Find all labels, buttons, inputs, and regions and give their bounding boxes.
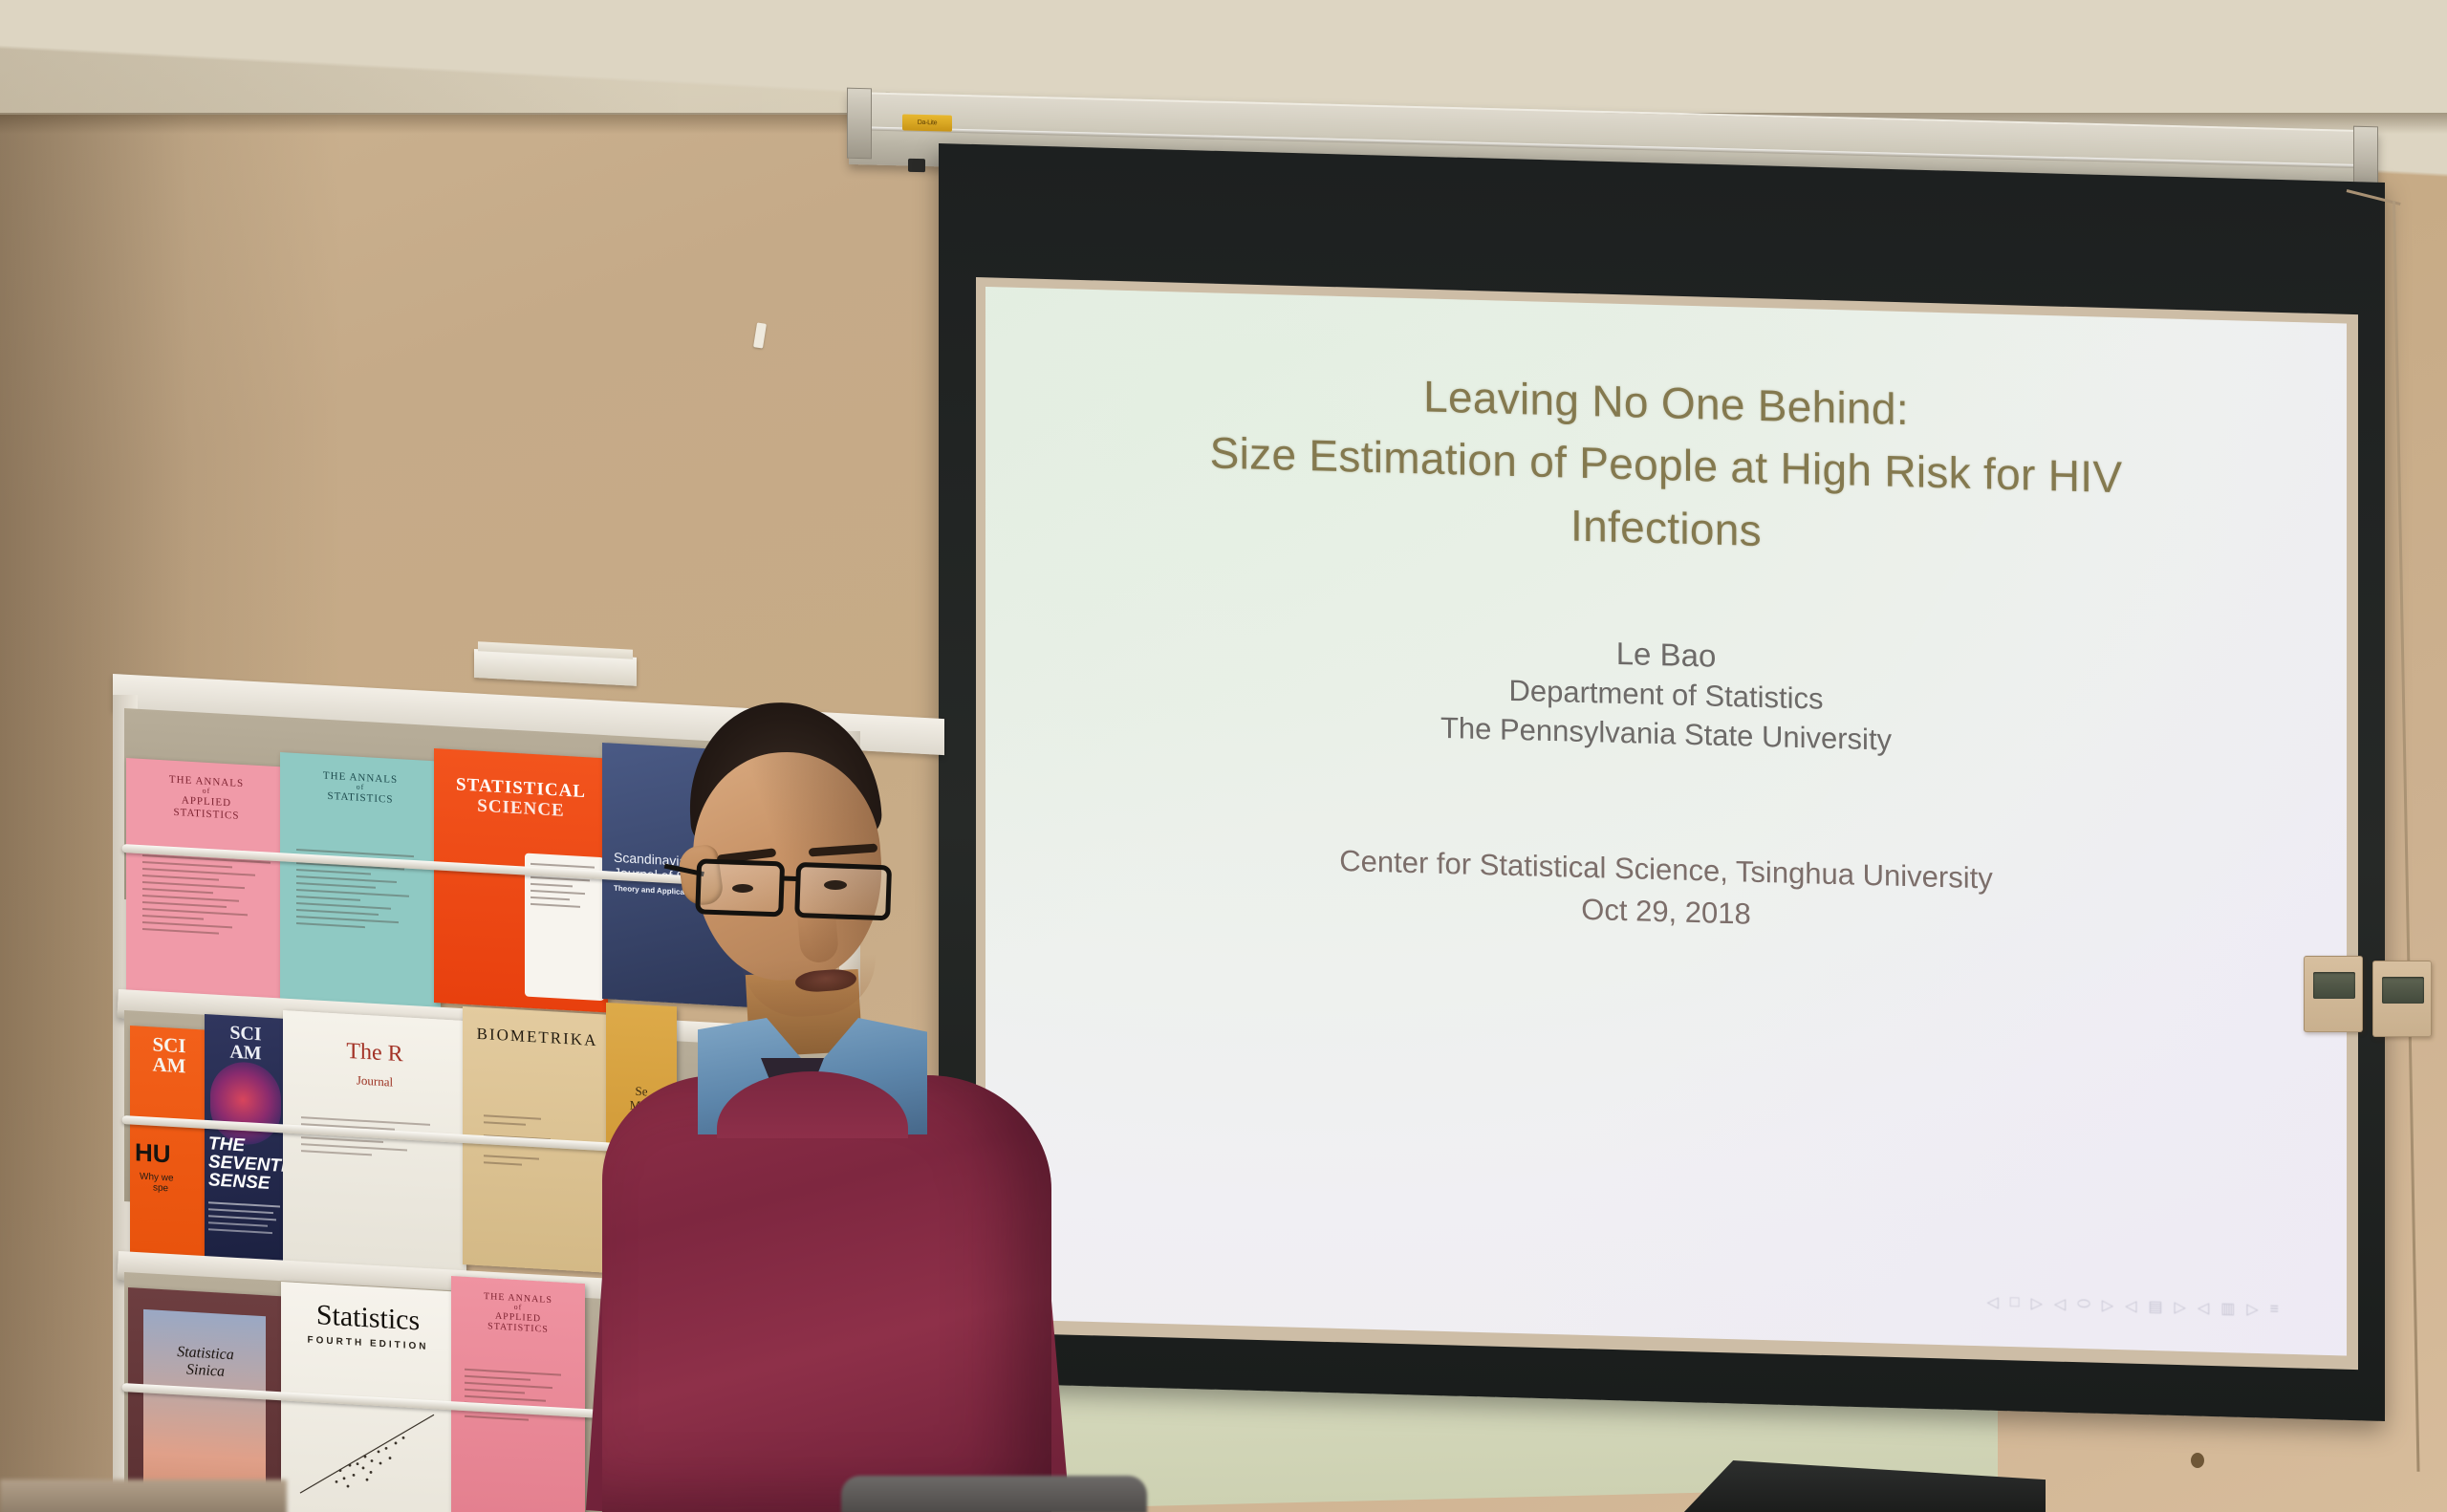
- journal-toc-lines: [465, 1369, 572, 1428]
- housing-brand-label: Da-Lite: [902, 114, 952, 131]
- eye-right: [824, 880, 847, 890]
- nav-section-next-icon[interactable]: ▷: [2246, 1300, 2259, 1319]
- nav-frame-prev-icon[interactable]: ◁: [2054, 1294, 2067, 1313]
- projected-slide: Leaving No One Behind: Size Estimation o…: [985, 287, 2347, 1356]
- nav-toc-icon[interactable]: ≡: [2270, 1301, 2280, 1318]
- journal-subtitle: Journal: [283, 1069, 466, 1094]
- av-jack-icon: [2313, 972, 2355, 999]
- nav-section-prev-icon[interactable]: ◁: [2198, 1298, 2210, 1317]
- slide-content: Leaving No One Behind: Size Estimation o…: [985, 287, 2347, 1356]
- magazine-scientific-american-human: SCI AM HU Why we spe: [130, 1026, 208, 1269]
- housing-bracket-left: [847, 88, 872, 160]
- journal-annals-applied-statistics: THE ANNALS of APPLIED STATISTICS: [126, 758, 287, 1006]
- nav-slide-next-icon[interactable]: ▷: [2031, 1294, 2044, 1313]
- slide-venue-block: Center for Statistical Science, Tsinghua…: [1339, 840, 1992, 942]
- magazine-headline: THE SEVENTH SENSE: [205, 1134, 287, 1194]
- foreground-chair: [841, 1476, 1147, 1512]
- nav-subsection-prev-icon[interactable]: ◁: [2125, 1296, 2137, 1315]
- lecture-hall-photo: Da-Lite Leaving No One Behind: Size Esti…: [0, 0, 2447, 1512]
- journal-annals-of-statistics: THE ANNALS of STATISTICS: [280, 752, 441, 1008]
- magazine-blurb-lines: [208, 1201, 282, 1239]
- book-title-line: Statistics: [281, 1297, 455, 1339]
- journal-toc-lines: [142, 854, 271, 942]
- journal-statistica-sinica: Statistica Sinica: [128, 1287, 283, 1512]
- scatter-plot-cover-art: [281, 1368, 455, 1512]
- journal-the-r-journal: The R Journal: [283, 1010, 466, 1275]
- nose: [797, 907, 840, 963]
- journal-cover-art: [143, 1309, 266, 1507]
- nav-slide-icon[interactable]: □: [2010, 1294, 2021, 1311]
- eye-left: [732, 884, 753, 893]
- journal-title: THE ANNALS of APPLIED STATISTICS: [451, 1289, 585, 1338]
- housing-endcap-left: [908, 159, 925, 172]
- journal-title: THE ANNALS of STATISTICS: [280, 767, 441, 809]
- wall-plate-right[interactable]: [2372, 961, 2432, 1037]
- journal-title-line: Journal: [283, 1069, 466, 1094]
- nav-section-icon[interactable]: ▥: [2220, 1299, 2236, 1318]
- nav-slide-prev-icon[interactable]: ◁: [1987, 1292, 2000, 1311]
- nav-frame-icon[interactable]: ⬭: [2077, 1296, 2091, 1313]
- wall-plate-left[interactable]: [2304, 956, 2363, 1032]
- magazine-subline: Why we spe: [130, 1171, 208, 1197]
- nav-subsection-next-icon[interactable]: ▷: [2175, 1298, 2187, 1317]
- journal-title: THE ANNALS of APPLIED STATISTICS: [126, 771, 287, 825]
- magazine-title: SCI AM: [130, 1033, 208, 1078]
- magazine-title-line: HU: [135, 1138, 208, 1171]
- magazine-cover-line: HU: [130, 1138, 208, 1171]
- magazine-title: SCI AM: [205, 1022, 287, 1065]
- foreground-shelf-edge: [0, 1480, 287, 1512]
- paper-stack: [474, 649, 637, 686]
- magazine-title-line: AM: [205, 1041, 287, 1065]
- nav-frame-next-icon[interactable]: ▷: [2102, 1296, 2114, 1315]
- presenter: [574, 702, 1071, 1512]
- slide-title: Leaving No One Behind: Size Estimation o…: [1067, 356, 2264, 575]
- journal-annals-applied-statistics-bottom: THE ANNALS of APPLIED STATISTICS: [451, 1276, 585, 1512]
- magazine-title-line: AM: [130, 1053, 208, 1078]
- nav-subsection-icon[interactable]: ▤: [2148, 1297, 2163, 1316]
- av-jack-icon: [2382, 977, 2424, 1004]
- slide-author-block: Le Bao Department of Statistics The Penn…: [1440, 628, 1892, 760]
- sweater: [602, 1075, 1051, 1512]
- journal-title: The R: [283, 1035, 466, 1071]
- magazine-scientific-american-seventh-sense: SCI AM THE SEVENTH SENSE: [205, 1014, 287, 1269]
- small-wall-hook: [2191, 1453, 2204, 1468]
- journal-title-line: The R: [283, 1035, 466, 1071]
- book-title: Statistics: [281, 1297, 455, 1339]
